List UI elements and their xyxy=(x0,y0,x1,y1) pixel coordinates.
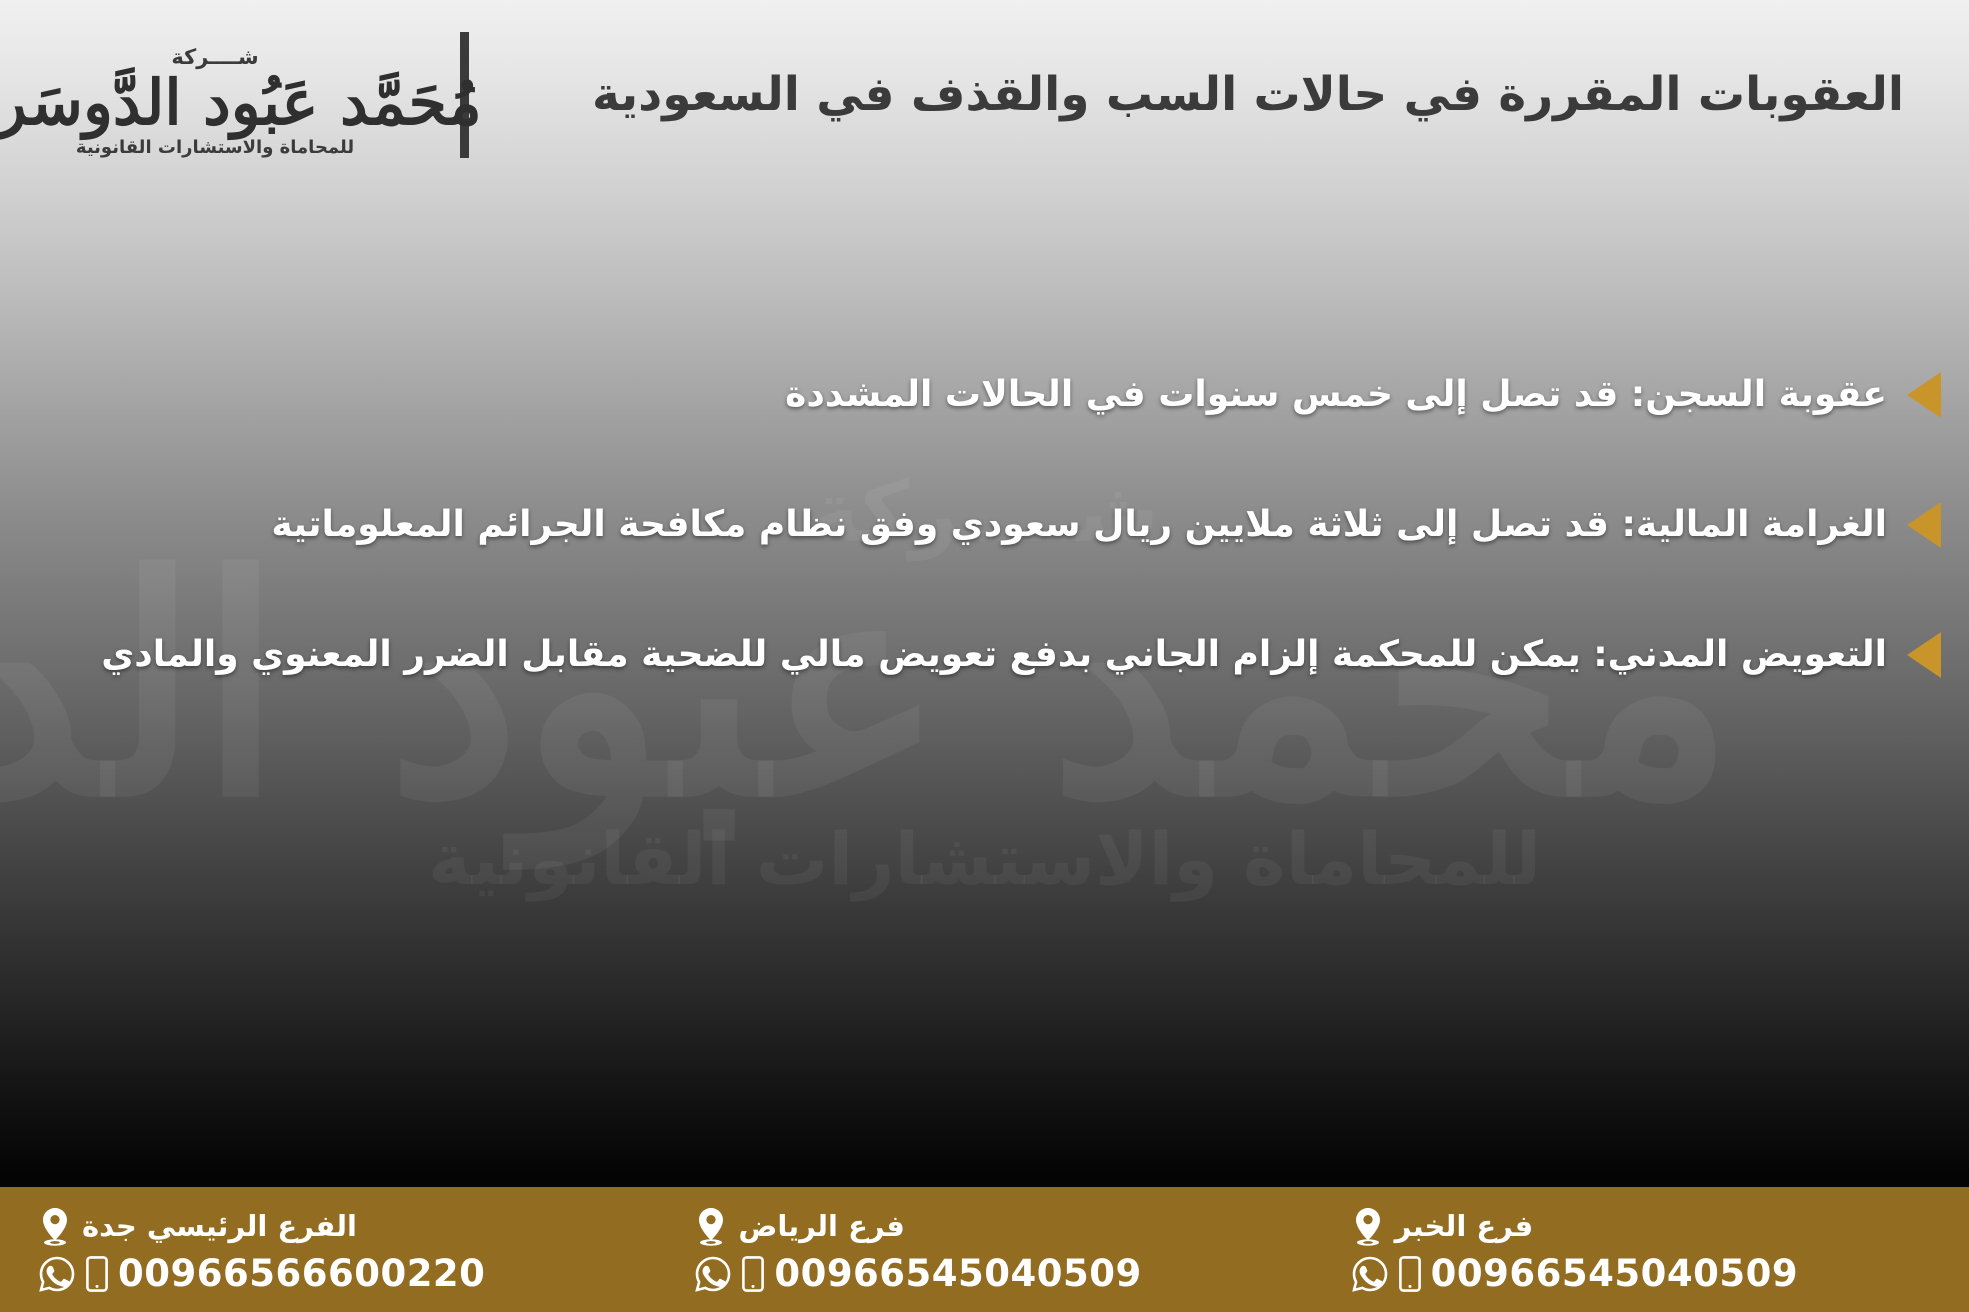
list-item-label: الغرامة المالية: قد تصل إلى ثلاثة ملايين… xyxy=(271,502,1887,549)
mobile-phone-icon[interactable] xyxy=(742,1256,764,1292)
branch-phone-row[interactable]: 00966566600220 xyxy=(38,1255,485,1293)
logo-prefix: شــــركة xyxy=(171,47,258,68)
footer-branch-riyadh: فرع الرياض 00966545040509 xyxy=(656,1187,1312,1312)
page-title: العقوبات المقررة في حالات السب والقذف في… xyxy=(497,66,1969,125)
branch-phone[interactable]: 00966545040509 xyxy=(1431,1255,1798,1292)
watermark-tagline: للمحاماة والاستشارات القانونية xyxy=(235,823,1735,895)
logo-company-name: مُحَمَّد عَبُود الدَّوسَري xyxy=(0,70,482,135)
list-item-label: التعويض المدني: يمكن للمحكمة إلزام الجان… xyxy=(101,632,1887,679)
branch-name-row: فرع الرياض xyxy=(694,1207,905,1247)
header: شــــركة مُحَمَّد عَبُود الدَّوسَري للمح… xyxy=(0,0,1969,190)
branch-phone-row[interactable]: 00966545040509 xyxy=(694,1255,1141,1293)
poster-canvas: شــــركة محمد عبود الدوسري للمحاماة والا… xyxy=(0,0,1969,1312)
branch-name: فرع الخبر xyxy=(1395,1212,1534,1241)
triangle-left-icon xyxy=(1907,372,1941,418)
branch-name-row: فرع الخبر xyxy=(1351,1207,1534,1247)
branch-name-row: الفرع الرئيسي جدة xyxy=(38,1207,357,1247)
map-pin-icon xyxy=(38,1207,72,1247)
list-item: عقوبة السجن: قد تصل إلى خمس سنوات في الح… xyxy=(0,330,1955,460)
whatsapp-icon[interactable] xyxy=(1351,1255,1389,1293)
footer-branch-jeddah: الفرع الرئيسي جدة 00966566600220 xyxy=(0,1187,656,1312)
branch-name: الفرع الرئيسي جدة xyxy=(82,1212,357,1241)
map-pin-icon xyxy=(1351,1207,1385,1247)
triangle-left-icon xyxy=(1907,632,1941,678)
map-pin-icon xyxy=(694,1207,728,1247)
whatsapp-icon[interactable] xyxy=(38,1255,76,1293)
company-logo: شــــركة مُحَمَّد عَبُود الدَّوسَري للمح… xyxy=(0,15,430,175)
footer-contact-bar: الفرع الرئيسي جدة 00966566600220 xyxy=(0,1187,1969,1312)
whatsapp-icon[interactable] xyxy=(694,1255,732,1293)
mobile-phone-icon[interactable] xyxy=(1399,1256,1421,1292)
branch-name: فرع الرياض xyxy=(738,1212,905,1241)
triangle-left-icon xyxy=(1907,502,1941,548)
mobile-phone-icon[interactable] xyxy=(86,1256,108,1292)
branch-phone[interactable]: 00966566600220 xyxy=(118,1255,485,1292)
list-item-label: عقوبة السجن: قد تصل إلى خمس سنوات في الح… xyxy=(785,372,1887,419)
footer-branch-khobar: فرع الخبر 00966545040509 xyxy=(1313,1187,1969,1312)
bullet-list: عقوبة السجن: قد تصل إلى خمس سنوات في الح… xyxy=(0,330,1969,720)
list-item: الغرامة المالية: قد تصل إلى ثلاثة ملايين… xyxy=(0,460,1955,590)
list-item: التعويض المدني: يمكن للمحكمة إلزام الجان… xyxy=(0,590,1955,720)
logo-tagline: للمحاماة والاستشارات القانونية xyxy=(76,139,354,157)
branch-phone[interactable]: 00966545040509 xyxy=(774,1255,1141,1292)
branch-phone-row[interactable]: 00966545040509 xyxy=(1351,1255,1798,1293)
